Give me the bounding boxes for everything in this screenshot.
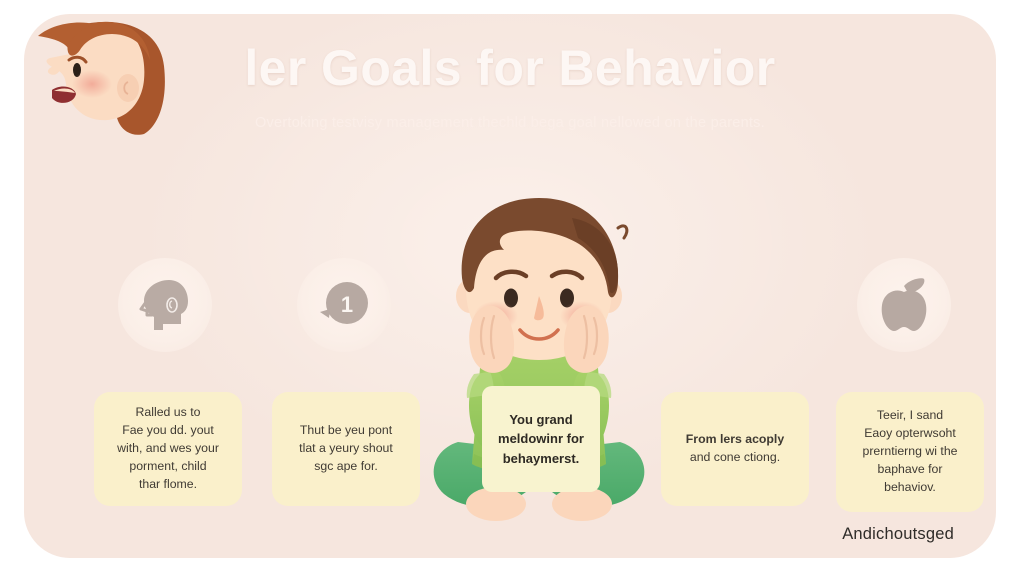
note-line: porment, child — [117, 458, 219, 476]
note-line: sgc ape for. — [299, 458, 393, 476]
note-card-3[interactable]: You grand meldowinr for behaymerst. — [482, 386, 600, 492]
note-lead-line: From lers acoply — [686, 431, 784, 449]
header: ler Goals for Behavior Overtoking testvi… — [24, 40, 996, 134]
note-line: and cone ctiong. — [686, 449, 784, 467]
note-line: thar flome. — [117, 476, 219, 494]
note-line: Eaoy opterwsoht — [862, 425, 957, 443]
note-line: meldowinr for — [498, 429, 584, 449]
note-line: baphave for — [862, 461, 957, 479]
note-card-1-text: Ralled us to Fae you dd. yout with, and … — [117, 404, 219, 494]
note-line: You grand — [498, 410, 584, 430]
note-line: with, and wes your — [117, 440, 219, 458]
apple-icon — [878, 277, 930, 333]
speech-bubble-icon: 1 — [316, 279, 372, 331]
note-card-5-text: Teeir, I sand Eaoy opterwsoht prerntiern… — [862, 407, 957, 497]
child-boy-illustration — [422, 192, 656, 547]
note-card-5[interactable]: Teeir, I sand Eaoy opterwsoht prerntiern… — [836, 392, 984, 512]
note-card-4-text: From lers acoply and cone ctiong. — [686, 431, 784, 467]
note-line: Teeir, I sand — [862, 407, 957, 425]
note-line: tlat a yeury shout — [299, 440, 393, 458]
note-line: Fae you dd. yout — [117, 422, 219, 440]
note-line: behaviov. — [862, 479, 957, 497]
note-line: prerntierng wi the — [862, 443, 957, 461]
infographic-panel: ler Goals for Behavior Overtoking testvi… — [24, 14, 996, 558]
note-card-2-text: Thut be yeu pont tlat a yeury shout sgc … — [299, 422, 393, 476]
note-line: Ralled us to — [117, 404, 219, 422]
screenshot-root: ler Goals for Behavior Overtoking testvi… — [0, 0, 1024, 576]
speech-bubble-badge-number: 1 — [341, 292, 353, 317]
note-card-1[interactable]: Ralled us to Fae you dd. yout with, and … — [94, 392, 242, 506]
apple-icon-circle[interactable] — [857, 258, 951, 352]
note-card-4[interactable]: From lers acoply and cone ctiong. — [661, 392, 809, 506]
note-card-3-text: You grand meldowinr for behaymerst. — [498, 410, 584, 469]
note-card-2[interactable]: Thut be yeu pont tlat a yeury shout sgc … — [272, 392, 420, 506]
page-subtitle: Overtoking testvisy management thechld b… — [130, 114, 890, 134]
footer-caption: Andichoutsged — [842, 525, 954, 544]
note-line: behaymerst. — [498, 449, 584, 469]
child-boy-svg — [422, 192, 656, 547]
head-profile-icon — [139, 277, 191, 333]
page-title: ler Goals for Behavior — [24, 40, 996, 96]
note-line: Thut be yeu pont — [299, 422, 393, 440]
speech-bubble-icon-circle[interactable]: 1 — [297, 258, 391, 352]
head-profile-icon-circle[interactable] — [118, 258, 212, 352]
